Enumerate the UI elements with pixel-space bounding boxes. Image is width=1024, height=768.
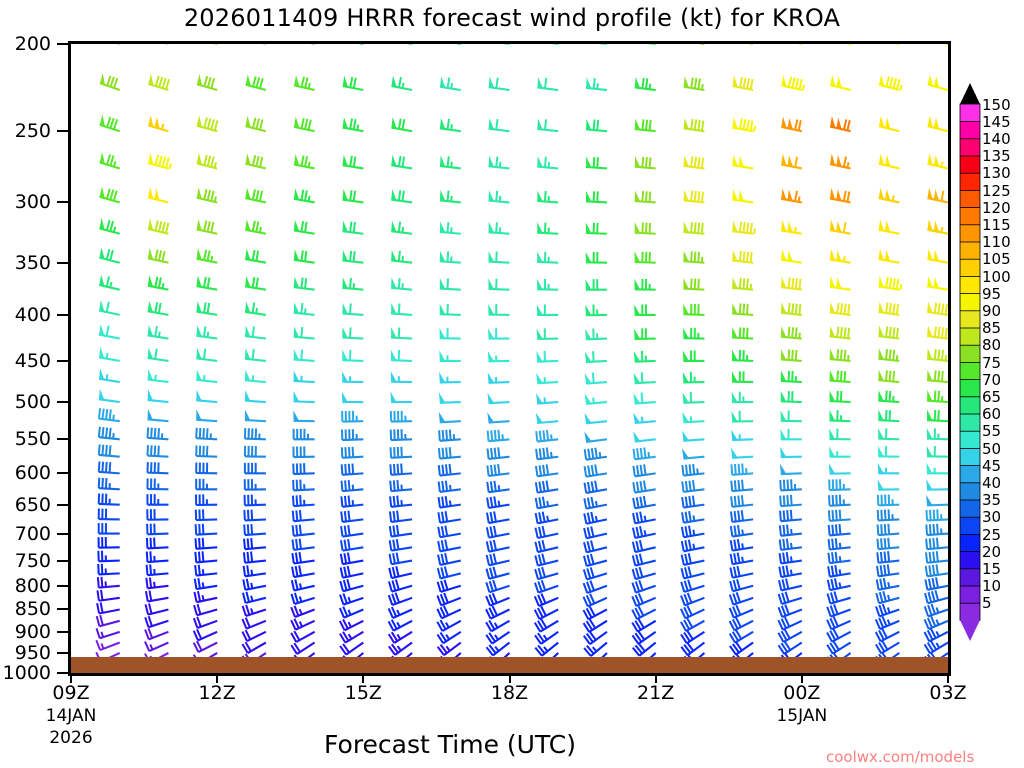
barb-group — [71, 44, 948, 668]
colorbar-tick-label: 135 — [982, 147, 1011, 165]
colorbar-cell — [960, 586, 980, 604]
colorbar: 5101520253035404550556065707580859095100… — [958, 82, 1024, 642]
colorbar-cell — [960, 190, 980, 208]
colorbar-tick-label: 130 — [982, 164, 1011, 182]
colorbar-tick-label: 70 — [982, 371, 1001, 389]
y-tick-mark — [57, 262, 68, 264]
y-tick-label: 550 — [0, 428, 51, 450]
colorbar-cell — [960, 310, 980, 328]
colorbar-tick-label: 110 — [982, 233, 1011, 251]
y-tick-mark — [57, 360, 68, 362]
colorbar-tick-label: 145 — [982, 113, 1011, 131]
colorbar-tick-label: 60 — [982, 405, 1001, 423]
colorbar-tick-label: 40 — [982, 474, 1001, 492]
colorbar-tick-label: 85 — [982, 319, 1001, 337]
y-tick-mark — [57, 608, 68, 610]
colorbar-cell — [960, 500, 980, 518]
y-tick-mark — [57, 631, 68, 633]
wind-profile-chart: 2026011409 HRRR forecast wind profile (k… — [0, 0, 1024, 768]
colorbar-tick-label: 115 — [982, 216, 1011, 234]
y-tick-mark — [57, 504, 68, 506]
y-tick-label: 500 — [0, 391, 51, 413]
colorbar-tick-label: 30 — [982, 508, 1001, 526]
colorbar-cell — [960, 568, 980, 586]
x-tick-label: 18Z — [491, 682, 528, 704]
colorbar-cell — [960, 517, 980, 535]
colorbar-tick-label: 45 — [982, 457, 1001, 475]
y-tick-label: 250 — [0, 120, 51, 142]
y-tick-mark — [57, 472, 68, 474]
y-tick-label: 450 — [0, 350, 51, 372]
x-axis-title: Forecast Time (UTC) — [0, 730, 900, 759]
y-tick-mark — [57, 130, 68, 132]
colorbar-cell — [960, 242, 980, 260]
colorbar-tick-label: 80 — [982, 336, 1001, 354]
colorbar-cell — [960, 362, 980, 380]
colorbar-tick-label: 55 — [982, 422, 1001, 440]
y-tick-mark — [57, 43, 68, 45]
y-tick-label: 400 — [0, 304, 51, 326]
page-title: 2026011409 HRRR forecast wind profile (k… — [0, 4, 1024, 32]
colorbar-gradient — [958, 82, 984, 646]
y-tick-label: 650 — [0, 494, 51, 516]
y-tick-label: 750 — [0, 550, 51, 572]
colorbar-under-arrow — [960, 620, 980, 641]
colorbar-cell — [960, 465, 980, 483]
colorbar-tick-label: 150 — [982, 96, 1011, 114]
y-tick-label: 300 — [0, 191, 51, 213]
colorbar-over-arrow — [960, 83, 980, 104]
y-tick-label: 800 — [0, 575, 51, 597]
x-tick-label: 03Z — [929, 682, 966, 704]
colorbar-cell — [960, 603, 980, 621]
colorbar-tick-label: 120 — [982, 199, 1011, 217]
colorbar-cell — [960, 104, 980, 122]
colorbar-cell — [960, 328, 980, 346]
colorbar-cell — [960, 345, 980, 363]
colorbar-tick-label: 50 — [982, 440, 1001, 458]
colorbar-cell — [960, 156, 980, 174]
x-tick-label: 15Z — [345, 682, 382, 704]
colorbar-tick-label: 125 — [982, 182, 1011, 200]
colorbar-tick-label: 100 — [982, 268, 1011, 286]
colorbar-cell — [960, 448, 980, 466]
colorbar-tick-label: 140 — [982, 130, 1011, 148]
x-tick-label: 00Z — [783, 682, 820, 704]
y-tick-mark — [57, 585, 68, 587]
colorbar-cell — [960, 138, 980, 156]
colorbar-cell — [960, 551, 980, 569]
colorbar-cell — [960, 414, 980, 432]
y-tick-mark — [57, 672, 68, 674]
colorbar-cell — [960, 431, 980, 449]
x-tick-label: 12Z — [199, 682, 236, 704]
y-tick-label: 950 — [0, 642, 51, 664]
colorbar-tick-label: 10 — [982, 577, 1001, 595]
colorbar-tick-label: 90 — [982, 302, 1001, 320]
y-tick-mark — [57, 314, 68, 316]
y-tick-mark — [57, 201, 68, 203]
colorbar-cell — [960, 224, 980, 242]
y-tick-label: 1000 — [0, 662, 51, 684]
colorbar-tick-label: 15 — [982, 560, 1001, 578]
colorbar-cell — [960, 207, 980, 225]
y-tick-label: 850 — [0, 598, 51, 620]
y-tick-mark — [57, 652, 68, 654]
colorbar-cell — [960, 482, 980, 500]
y-tick-label: 350 — [0, 252, 51, 274]
x-tick-label: 21Z — [637, 682, 674, 704]
y-tick-mark — [57, 560, 68, 562]
wind-barb-layer — [71, 44, 948, 673]
y-tick-label: 600 — [0, 462, 51, 484]
colorbar-cell — [960, 293, 980, 311]
colorbar-tick-label: 65 — [982, 388, 1001, 406]
terrain-band — [71, 657, 948, 673]
y-tick-label: 200 — [0, 33, 51, 55]
y-tick-label: 900 — [0, 621, 51, 643]
colorbar-cell — [960, 396, 980, 414]
colorbar-tick-label: 35 — [982, 491, 1001, 509]
colorbar-cell — [960, 121, 980, 139]
x-date-label: 15JAN — [776, 706, 827, 726]
colorbar-cell — [960, 259, 980, 277]
colorbar-tick-label: 105 — [982, 250, 1011, 268]
colorbar-tick-label: 25 — [982, 526, 1001, 544]
y-tick-label: 700 — [0, 523, 51, 545]
colorbar-cell — [960, 534, 980, 552]
colorbar-tick-label: 5 — [982, 594, 992, 612]
x-date-label: 14JAN — [46, 706, 97, 726]
watermark: coolwx.com/models — [826, 748, 974, 766]
y-tick-mark — [57, 438, 68, 440]
colorbar-cell — [960, 276, 980, 294]
x-tick-label: 09Z — [52, 682, 89, 704]
y-tick-mark — [57, 401, 68, 403]
colorbar-tick-label: 95 — [982, 285, 1001, 303]
colorbar-cell — [960, 173, 980, 191]
colorbar-tick-label: 20 — [982, 543, 1001, 561]
plot-area — [68, 41, 951, 676]
colorbar-tick-label: 75 — [982, 354, 1001, 372]
colorbar-cell — [960, 379, 980, 397]
y-tick-mark — [57, 533, 68, 535]
